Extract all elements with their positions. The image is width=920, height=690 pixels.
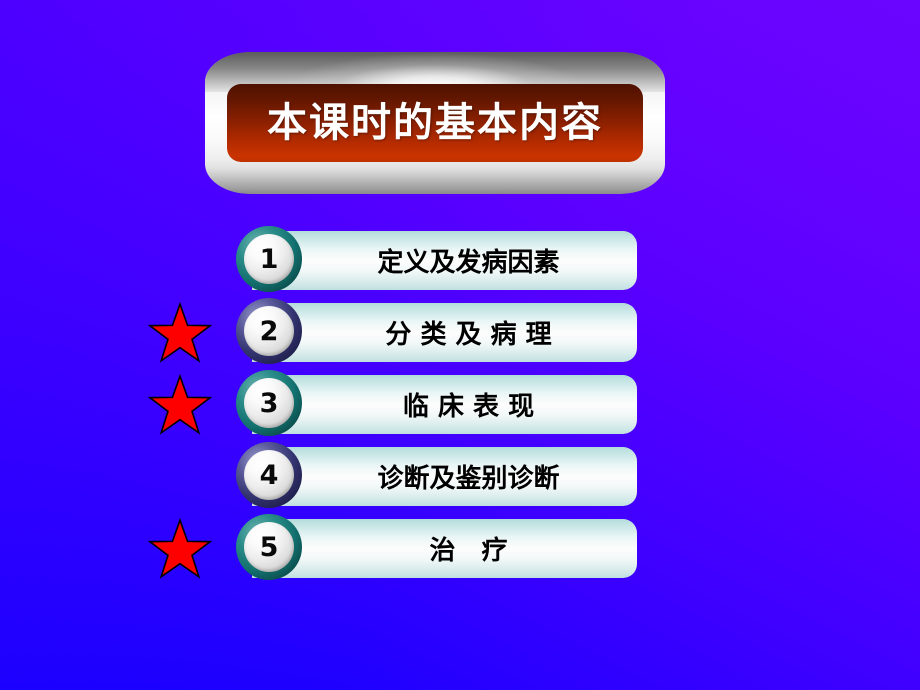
list-item[interactable]: 4 诊断及鉴别诊断 (0, 442, 920, 514)
list-item-number-disc: 4 (244, 450, 294, 500)
presentation-slide: 本课时的基本内容 1 定义及发病因素 2 (0, 0, 920, 690)
list-item-label: 定义及发病因素 (300, 231, 637, 290)
list-item[interactable]: 1 定义及发病因素 (0, 226, 920, 298)
list-item-label: 临 床 表 现 (300, 375, 637, 434)
title-plaque: 本课时的基本内容 (227, 84, 643, 162)
star-icon (148, 374, 212, 436)
slide-title-block: 本课时的基本内容 (205, 52, 665, 194)
page-title: 本课时的基本内容 (267, 103, 603, 143)
list-item-number: 1 (260, 246, 279, 273)
list-item-number: 2 (260, 318, 279, 345)
star-icon (148, 302, 212, 364)
list-item-number: 5 (260, 534, 279, 561)
list-item-number-badge: 5 (236, 514, 302, 580)
list-item-number: 4 (260, 462, 279, 489)
list-item-number-disc: 5 (244, 522, 294, 572)
list-item-number: 3 (260, 390, 279, 417)
list-item[interactable]: 5 治 疗 (0, 514, 920, 586)
list-item-number-badge: 4 (236, 442, 302, 508)
star-icon (148, 518, 212, 580)
list-item-number-disc: 2 (244, 306, 294, 356)
list-item[interactable]: 2 分 类 及 病 理 (0, 298, 920, 370)
list-item-label: 分 类 及 病 理 (300, 303, 637, 362)
list-item-number-badge: 1 (236, 226, 302, 292)
list-item-number-badge: 3 (236, 370, 302, 436)
agenda-list: 1 定义及发病因素 2 分 类 及 病 理 (0, 226, 920, 586)
title-frame-shadow (205, 168, 665, 194)
list-item-number-disc: 3 (244, 378, 294, 428)
list-item-label: 治 疗 (300, 519, 637, 578)
list-item[interactable]: 3 临 床 表 现 (0, 370, 920, 442)
list-item-number-disc: 1 (244, 234, 294, 284)
list-item-number-badge: 2 (236, 298, 302, 364)
list-item-label: 诊断及鉴别诊断 (300, 447, 637, 506)
